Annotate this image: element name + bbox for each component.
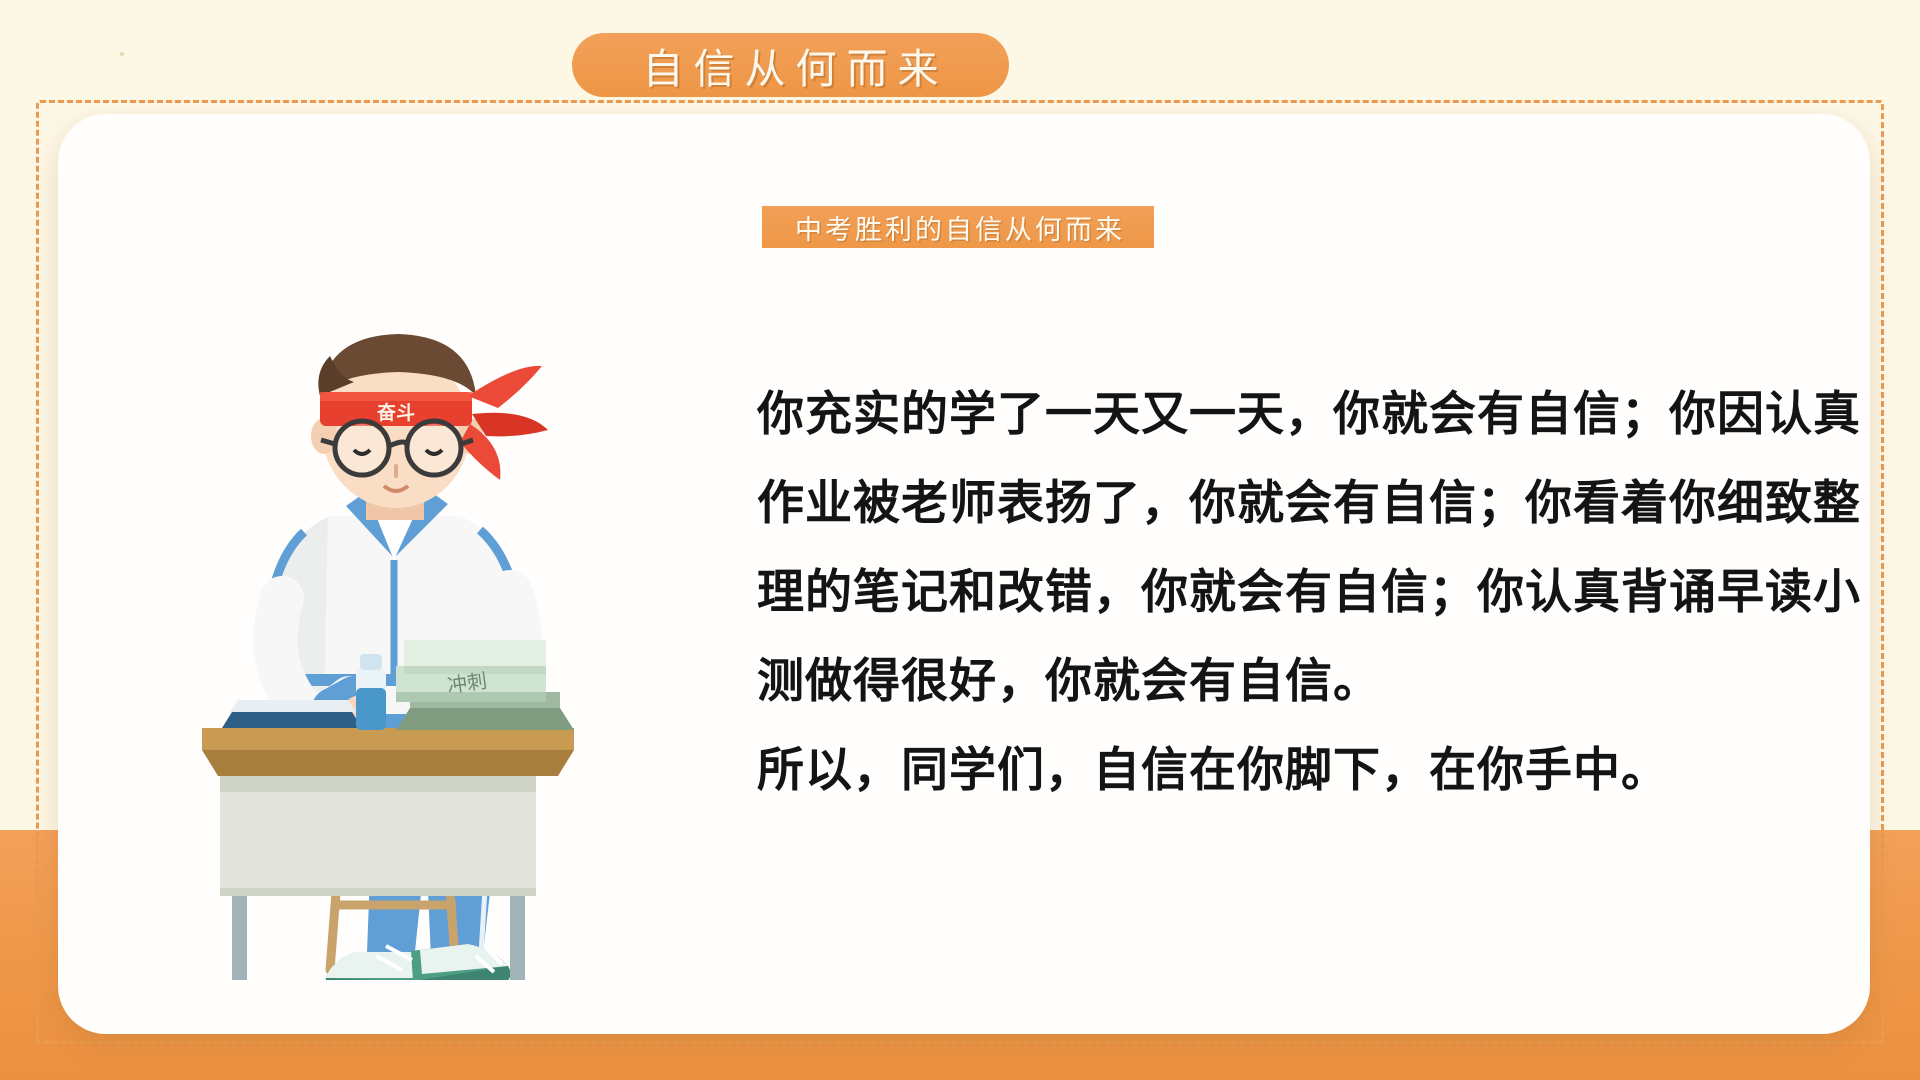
body-copy: 你充实的学了一天又一天，你就会有自信；你因认真作业被老师表扬了，你就会有自信；你…: [757, 370, 1862, 815]
slide-title: 自信从何而来: [633, 35, 949, 95]
section-banner-label: 中考胜利的自信从何而来: [791, 208, 1125, 247]
headband-text: 奋斗: [376, 401, 415, 424]
student-studying-illustration: 奋斗 冲刺: [180, 280, 680, 980]
section-banner: 中考胜利的自信从何而来: [762, 206, 1154, 248]
body-paragraph-2: 所以，同学们，自信在你脚下，在你手中。: [757, 726, 1862, 815]
decorative-dot: [120, 52, 124, 56]
body-paragraph-1: 你充实的学了一天又一天，你就会有自信；你因认真作业被老师表扬了，你就会有自信；你…: [757, 370, 1862, 726]
slide-title-pill: 自信从何而来: [572, 33, 1009, 97]
